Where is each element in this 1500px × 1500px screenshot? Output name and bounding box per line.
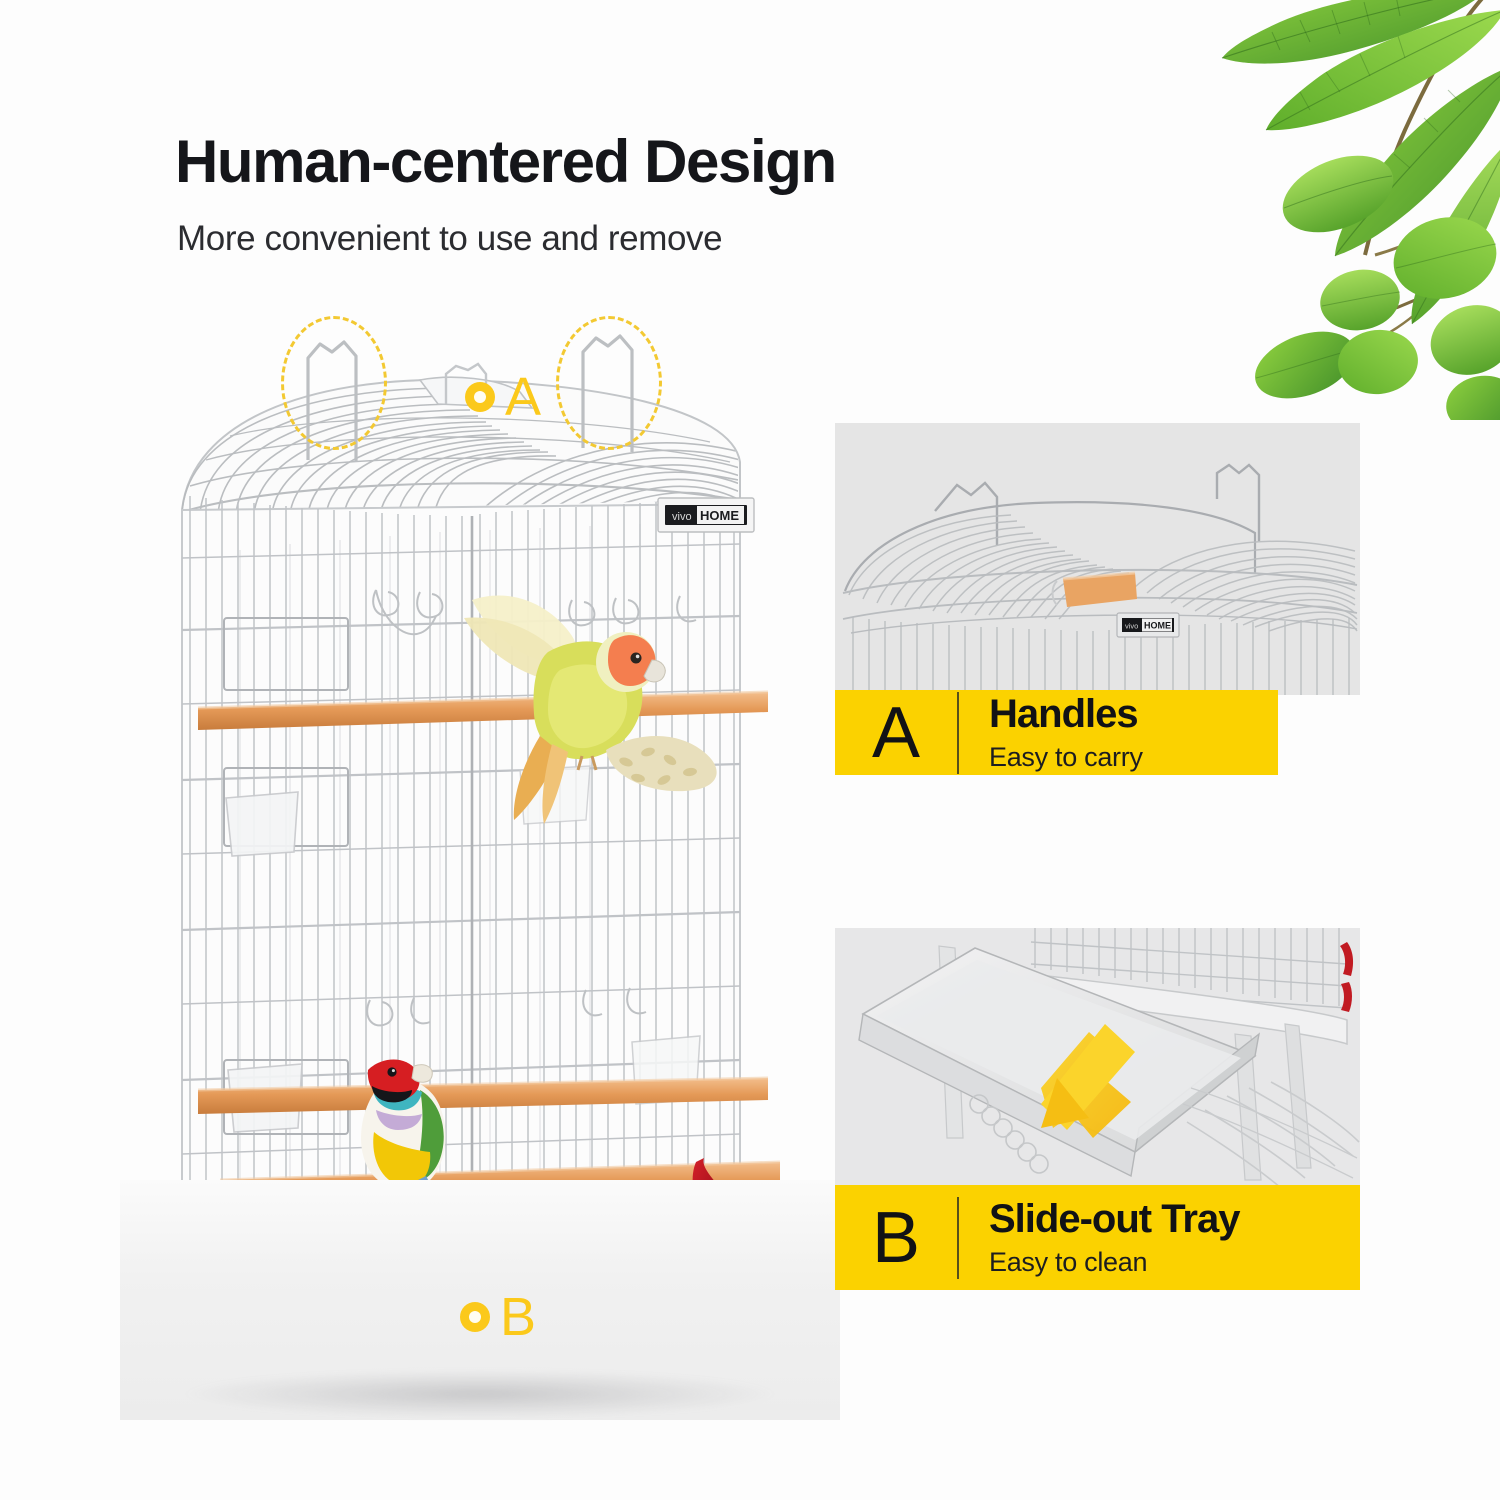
page-subtitle: More convenient to use and remove (177, 219, 1125, 259)
callout-divider (957, 1197, 959, 1279)
callout-title-a: Handles (989, 692, 1143, 736)
marker-letter-b: B (500, 1290, 536, 1344)
hero-marker-b: B (460, 1290, 536, 1344)
page-title: Human-centered Design (175, 130, 1125, 193)
svg-text:vivo: vivo (672, 511, 692, 523)
vivohome-badge: vivo HOME (658, 498, 754, 532)
handle-highlight-right (556, 316, 662, 450)
svg-text:HOME: HOME (700, 508, 739, 523)
callout-subtitle-a: Easy to carry (989, 742, 1143, 773)
callout-panel-b: B Slide-out Tray Easy to clean (835, 928, 1360, 1290)
callout-photo-handles: vivo HOME (835, 423, 1360, 695)
callout-divider (957, 692, 959, 774)
hero-marker-a: A (465, 370, 541, 424)
callout-panel-a: vivo HOME A Handles Easy to carry (835, 423, 1360, 775)
marker-letter-a: A (505, 370, 541, 424)
callout-subtitle-b: Easy to clean (989, 1247, 1240, 1278)
marker-dot-icon (460, 1302, 490, 1332)
callout-title-b: Slide-out Tray (989, 1197, 1240, 1241)
callout-band-b: B Slide-out Tray Easy to clean (835, 1185, 1360, 1290)
product-shadow (180, 1370, 780, 1418)
svg-text:HOME: HOME (1144, 621, 1171, 631)
infographic-canvas: Human-centered Design More convenient to… (0, 0, 1500, 1500)
cage-body (182, 496, 740, 1248)
callout-letter-b: B (835, 1202, 957, 1274)
marker-dot-icon (465, 382, 495, 412)
callout-band-a: A Handles Easy to carry (835, 690, 1278, 775)
header-block: Human-centered Design More convenient to… (175, 130, 1125, 259)
handle-highlight-left (281, 316, 387, 450)
feeder-cup-left (226, 792, 298, 856)
callout-letter-a: A (835, 697, 957, 769)
product-hero-image: vivo HOME (120, 300, 820, 1420)
leaf-branch-decoration (1160, 0, 1500, 420)
svg-text:vivo: vivo (1125, 622, 1138, 631)
callout-photo-tray (835, 928, 1360, 1190)
